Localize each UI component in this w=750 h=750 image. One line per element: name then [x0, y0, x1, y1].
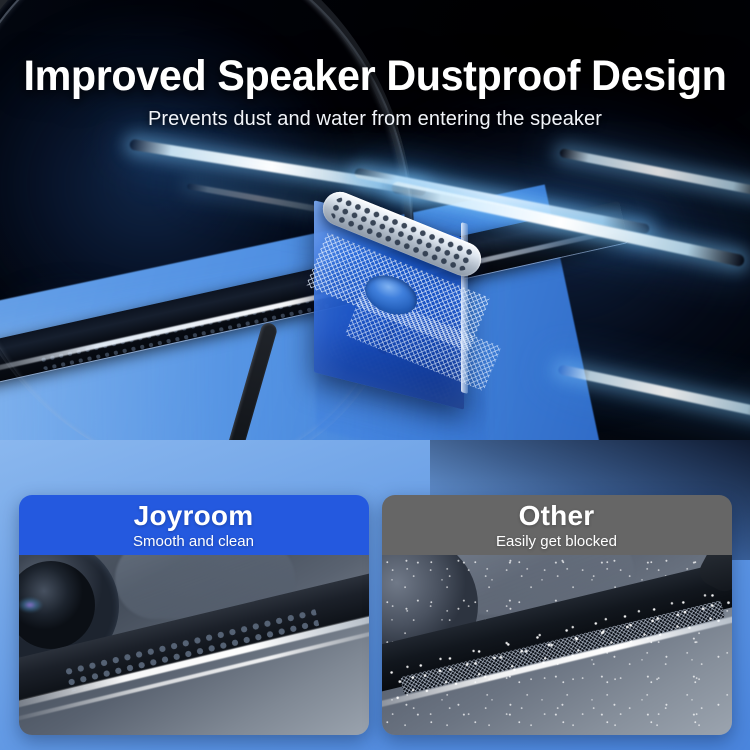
- dustproof-speaker-module: [300, 205, 500, 435]
- page-subtitle: Prevents dust and water from entering th…: [0, 108, 750, 131]
- panel-header-joyroom: Joyroom Smooth and clean: [19, 495, 369, 555]
- comparison-panels: Joyroom Smooth and clean Other Easily ge…: [0, 495, 750, 740]
- hero-text-block: Improved Speaker Dustproof Design Preven…: [0, 54, 750, 131]
- hero-section: Improved Speaker Dustproof Design Preven…: [0, 0, 750, 505]
- panel-photo-clean-speaker: [19, 555, 369, 735]
- panel-caption-label: Smooth and clean: [133, 534, 254, 549]
- lens-glint: [19, 597, 43, 613]
- product-marketing-poster: Improved Speaker Dustproof Design Preven…: [0, 0, 750, 750]
- panel-brand-label: Joyroom: [134, 502, 254, 530]
- panel-caption-label: Easily get blocked: [496, 534, 617, 549]
- comparison-panel-other[interactable]: Other Easily get blocked: [382, 495, 732, 735]
- panel-photo-blocked-speaker: [382, 555, 732, 735]
- panel-header-other: Other Easily get blocked: [382, 495, 732, 555]
- comparison-panel-joyroom[interactable]: Joyroom Smooth and clean: [19, 495, 369, 735]
- panel-brand-label: Other: [519, 502, 595, 530]
- page-title: Improved Speaker Dustproof Design: [15, 54, 735, 99]
